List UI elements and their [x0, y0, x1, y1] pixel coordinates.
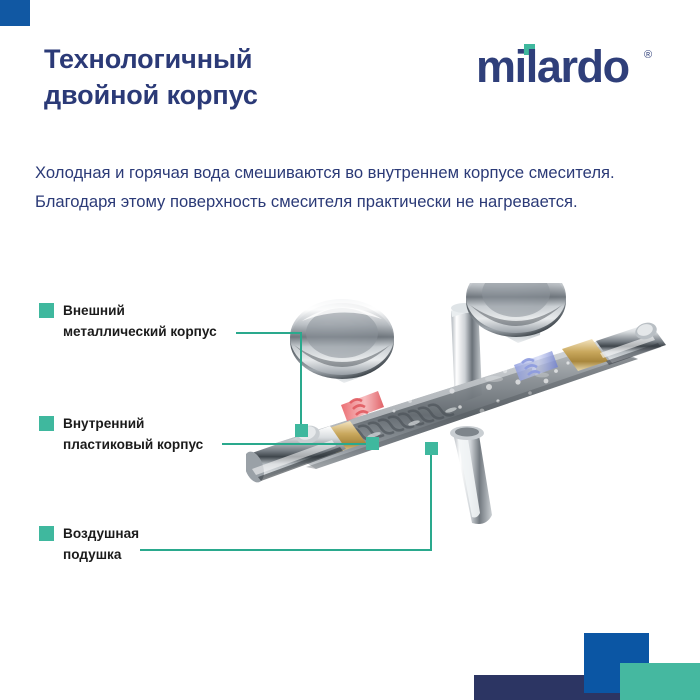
callout-bullet-icon	[39, 303, 54, 318]
corner-decor-teal-square	[620, 663, 700, 700]
brand-logo: milardo ®	[476, 42, 661, 90]
intro-paragraph: Холодная и горячая вода смешиваются во в…	[35, 158, 660, 216]
leader-line-air-vertical	[430, 449, 432, 550]
logo-wordmark-text: milardo	[476, 42, 629, 90]
leader-line-inner-horizontal	[222, 443, 374, 445]
product-illustration	[246, 283, 666, 533]
logo-trademark-symbol: ®	[644, 49, 652, 61]
right-valve-handle	[466, 283, 566, 381]
slide-canvas: Технологичный двойной корпус milardo ® Х…	[0, 0, 700, 700]
leader-node-air-cushion	[425, 442, 438, 455]
left-valve-handle	[290, 299, 394, 421]
hose-outlet	[450, 426, 492, 524]
callout-bullet-icon	[39, 526, 54, 541]
leader-line-outer-vertical	[300, 332, 302, 432]
leader-line-air-horizontal	[140, 549, 432, 551]
page-title-line-2: двойной корпус	[44, 77, 464, 113]
callout-outer-housing-label: Внешний металлический корпус	[63, 300, 217, 342]
page-title: Технологичный двойной корпус	[44, 41, 464, 113]
callout-air-cushion-label: Воздушная подушка	[63, 523, 139, 565]
corner-decor-top-left	[0, 0, 30, 26]
leader-node-inner-housing	[366, 437, 379, 450]
callout-inner-housing-label: Внутренний пластиковый корпус	[63, 413, 203, 455]
leader-node-outer-housing	[295, 424, 308, 437]
leader-line-outer-horizontal	[236, 332, 302, 334]
callout-bullet-icon	[39, 416, 54, 431]
page-title-line-1: Технологичный	[44, 41, 464, 77]
